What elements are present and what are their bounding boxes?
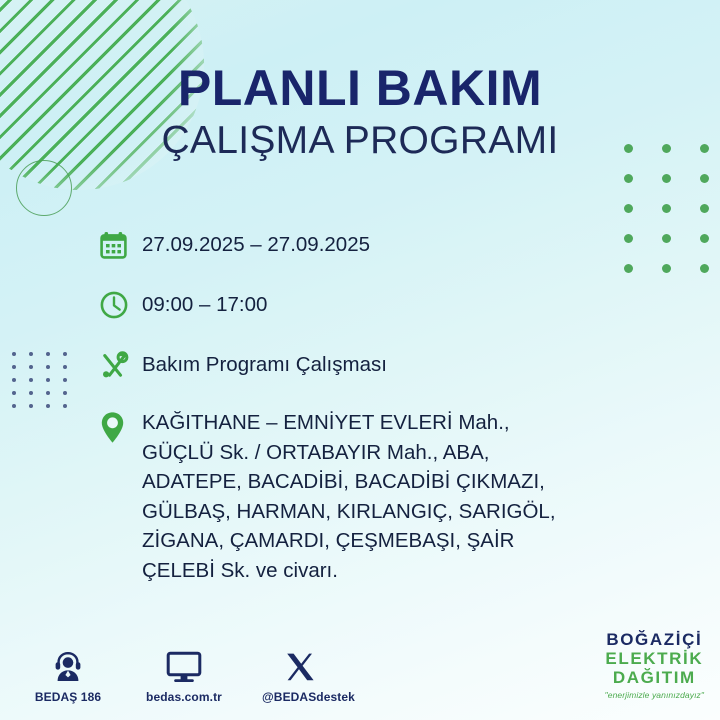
location-line: GÜLBAŞ, HARMAN, KIRLANGIÇ, SARIGÖL, [142, 497, 556, 527]
contact-website-label: bedas.com.tr [146, 690, 222, 704]
detail-row-date: 27.09.2025 – 27.09.2025 [100, 228, 680, 262]
clock-icon [100, 288, 142, 322]
poster-canvas: PLANLI BAKIM ÇALIŞMA PROGRAMI 27 [0, 0, 720, 720]
time-range-text: 09:00 – 17:00 [142, 288, 267, 316]
logo-line-elektrik: ELEKTRİK [605, 649, 704, 668]
detail-row-work-type: Bakım Programı Çalışması [100, 348, 680, 382]
outage-details: 27.09.2025 – 27.09.2025 09:00 – 17:00 [100, 228, 680, 585]
location-line: ZİGANA, ÇAMARDI, ÇEŞMEBAŞI, ŞAİR [142, 526, 556, 556]
monitor-icon [146, 647, 222, 683]
detail-row-time: 09:00 – 17:00 [100, 288, 680, 322]
page-subtitle: ÇALIŞMA PROGRAMI [0, 119, 720, 163]
location-line: GÜÇLÜ Sk. / ORTABAYIR Mah., ABA, [142, 438, 556, 468]
dot-grid-left-decoration [12, 352, 80, 417]
footer-contacts: BEDAŞ 186 bedas.com.tr @BEDASdestek [30, 647, 338, 704]
contact-social-label: @BEDASdestek [262, 690, 338, 704]
contact-social-x[interactable]: @BEDASdestek [262, 647, 338, 704]
x-twitter-icon [262, 647, 338, 683]
tools-icon [100, 348, 142, 382]
contact-phone-label: BEDAŞ 186 [30, 690, 106, 704]
location-line: ÇELEBİ Sk. ve civarı. [142, 556, 556, 586]
circle-outline-decoration [16, 160, 72, 216]
location-line: KAĞITHANE – EMNİYET EVLERİ Mah., [142, 408, 556, 438]
logo-line-bogazici: BOĞAZİÇİ [605, 630, 704, 649]
contact-phone[interactable]: BEDAŞ 186 [30, 647, 106, 704]
location-line: ADATEPE, BACADİBİ, BACADİBİ ÇIKMAZI, [142, 467, 556, 497]
logo-line-dagitim: DAĞITIM [605, 668, 704, 687]
headset-support-icon [30, 647, 106, 683]
logo-tagline: "enerjimizle yanınızdayız" [605, 690, 704, 700]
contact-website[interactable]: bedas.com.tr [146, 647, 222, 704]
work-type-text: Bakım Programı Çalışması [142, 348, 387, 376]
page-title: PLANLI BAKIM [0, 62, 720, 115]
date-range-text: 27.09.2025 – 27.09.2025 [142, 228, 370, 256]
calendar-icon [100, 228, 142, 262]
poster-header: PLANLI BAKIM ÇALIŞMA PROGRAMI [0, 62, 720, 163]
location-text: KAĞITHANE – EMNİYET EVLERİ Mah., GÜÇLÜ S… [142, 408, 556, 585]
map-pin-icon [100, 408, 142, 442]
company-logo: BOĞAZİÇİ ELEKTRİK DAĞITIM "enerjimizle y… [605, 630, 704, 700]
detail-row-location: KAĞITHANE – EMNİYET EVLERİ Mah., GÜÇLÜ S… [100, 408, 680, 585]
